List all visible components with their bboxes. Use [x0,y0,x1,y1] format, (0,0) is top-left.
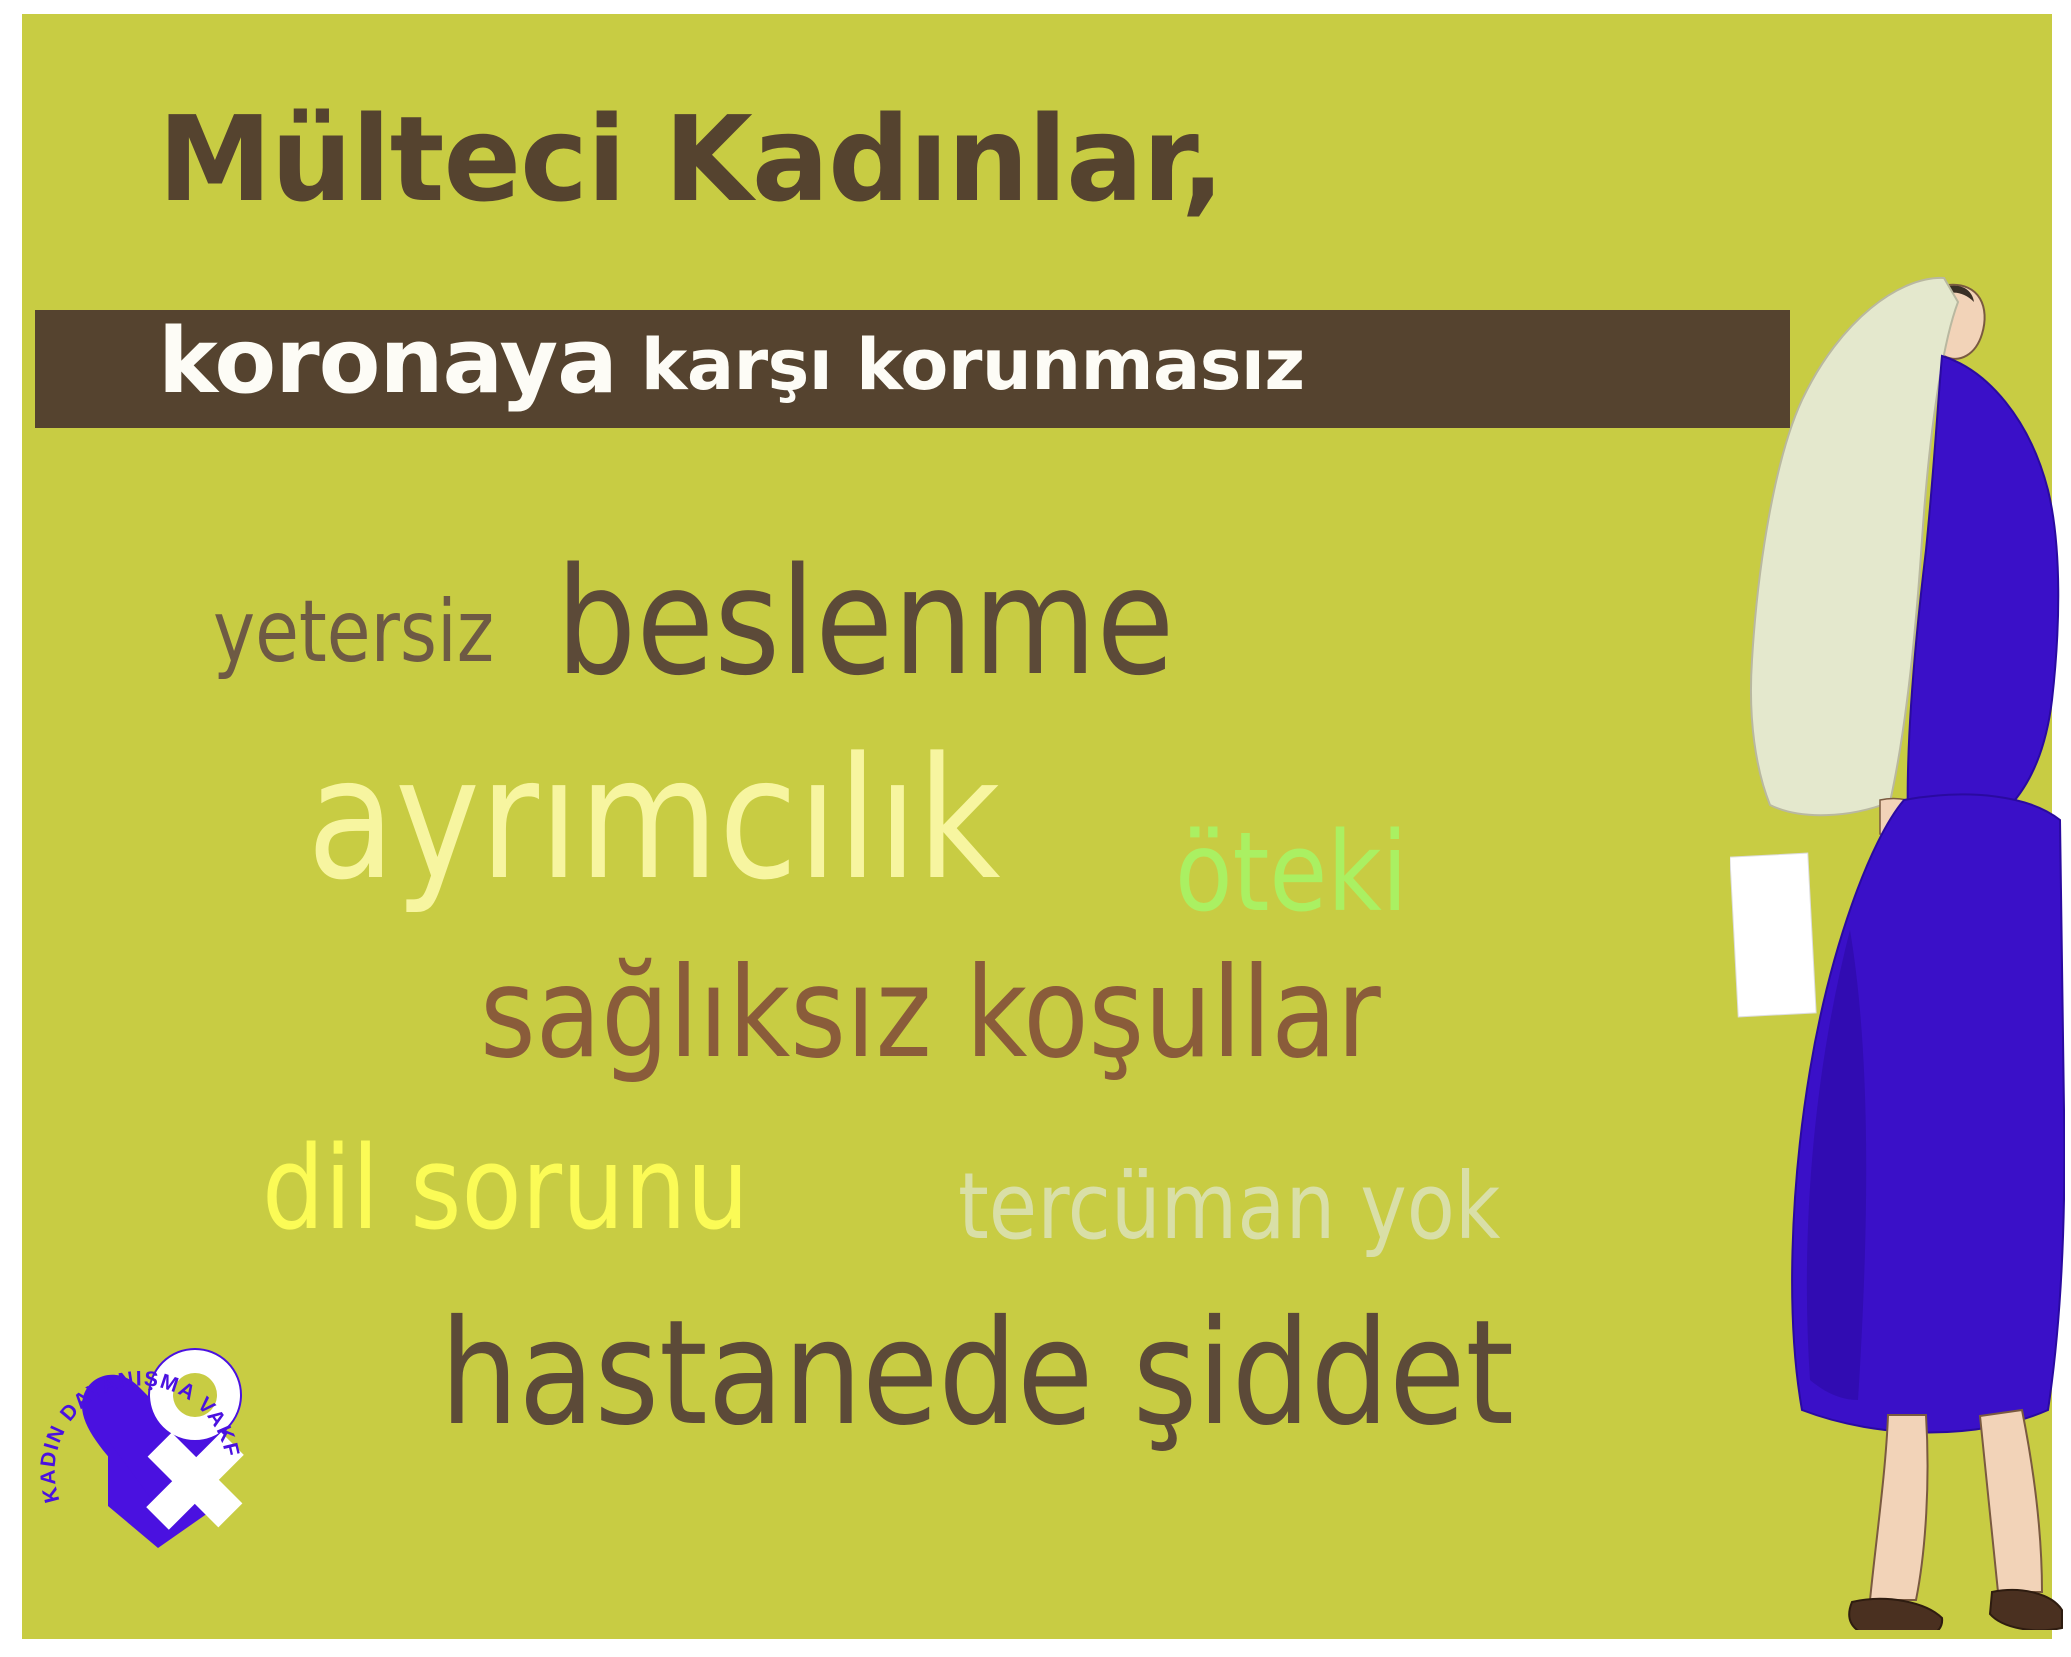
banner-bold-text: koronaya [158,309,617,414]
word-saglikisiz-kosullar: sağlıksız koşullar [480,955,1381,1074]
word-ayrimcilik: ayrımcılık [307,740,1001,900]
word-hastanede-siddet: hastanede şiddet [440,1305,1514,1443]
banner-text: koronaya karşı korunmasız [158,317,1305,407]
word-tercuman-yok: tercüman yok [958,1163,1500,1250]
word-yetersiz: yetersiz [213,592,494,674]
word-beslenme: beslenme [556,552,1174,693]
word-oteki: öteki [1175,820,1408,925]
page-title: Mülteci Kadınlar, [158,100,1224,218]
word-dil-sorunu: dil sorunu [262,1135,749,1244]
organization-logo: KADIN DAYANIŞMA VAKFI [30,1310,280,1560]
poster-canvas: Mülteci Kadınlar, koronaya karşı korunma… [0,0,2071,1657]
front-leg-shape [1980,1410,2042,1592]
front-shoe-shape [1990,1590,2062,1630]
back-shoe-shape [1849,1599,1942,1630]
back-leg-shape [1870,1415,1928,1600]
woman-illustration [1730,230,2065,1630]
paper-icon [1730,853,1816,1017]
banner-regular-text: karşı korunmasız [617,324,1305,406]
